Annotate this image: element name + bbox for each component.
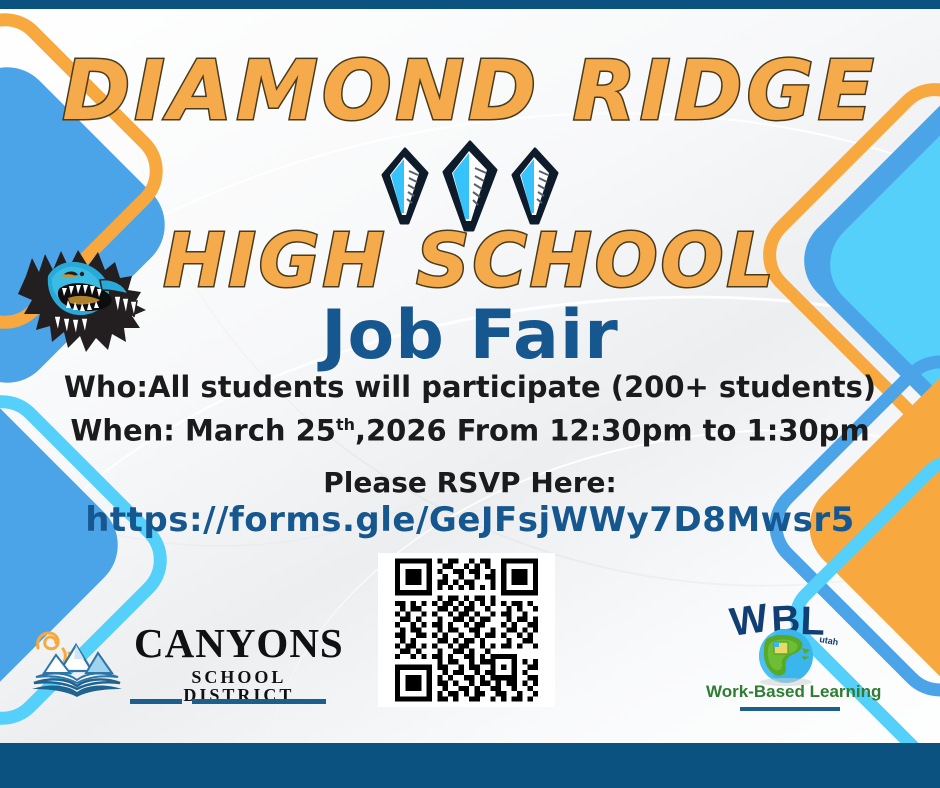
diamond-kite-icon [379,147,431,225]
canyons-name: CANYONS [134,623,344,664]
rsvp-url-link[interactable]: https://forms.gle/GeJFsjWWy7D8Mwsr5 [0,500,940,540]
canyons-wordmark: CANYONS SCHOOL DISTRICT [134,623,344,704]
job-fair-flyer: DIAMOND RIDGE HIGH SCHOOL Job Fair [0,0,940,788]
when-ordinal-suffix: th [336,415,355,434]
diamond-kite-icon [509,147,561,225]
event-details-block: Who:All students will participate (200+ … [0,368,940,500]
canyons-school-district-logo: CANYONS SCHOOL DISTRICT [30,620,330,706]
wbl-logo: W B L utah Work-Based Learning [706,600,866,706]
bottom-accent-bar [0,743,940,788]
svg-text:W: W [727,600,771,645]
when-prefix: When: March 25 [70,414,336,448]
raptor-mascot-icon [8,218,158,358]
svg-text:utah: utah [819,634,839,647]
when-suffix: ,2026 From 12:30pm to 1:30pm [355,414,870,448]
qr-code-image [378,553,555,707]
wbl-tagline: Work-Based Learning [706,682,866,702]
rule-segment-short [130,699,182,704]
who-line: Who:All students will participate (200+ … [0,368,940,406]
raptor-mascot-image [8,218,158,358]
canyons-sun-mountains-book-icon [30,623,126,703]
wbl-globe-icon: W B L utah [706,600,866,686]
wbl-logo-rule [740,707,840,711]
top-accent-bar [0,0,940,9]
rsvp-label: Please RSVP Here: [0,466,940,500]
school-name-line-1: DIAMOND RIDGE [0,44,940,139]
when-line: When: March 25th,2026 From 12:30pm to 1:… [0,406,940,450]
rule-segment-long [192,699,326,704]
diamond-kite-icon [439,140,501,232]
canyons-logo-rule [130,699,326,704]
qr-code[interactable] [378,553,555,707]
